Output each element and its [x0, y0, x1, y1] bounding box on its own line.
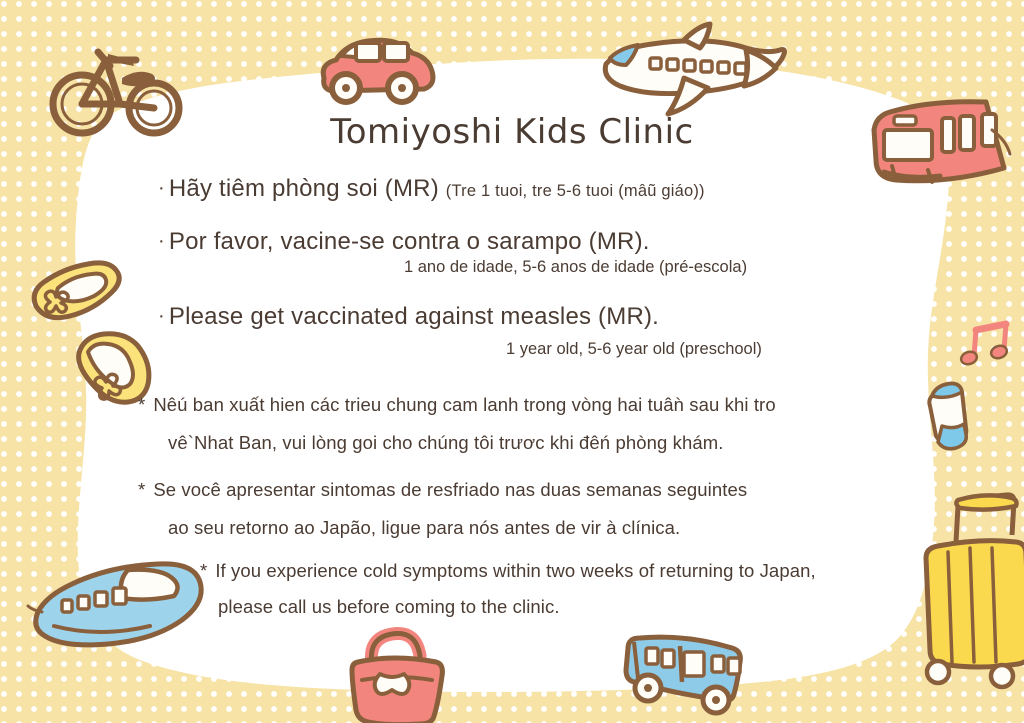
cold-note-vietnamese-line2: vê`Nhat Ban, vui lòng goi cho chúng tôi … — [168, 432, 724, 454]
cold-note-portuguese-line1-text: Se você apresentar sintomas de resfriado… — [153, 479, 747, 500]
poster-text: Tomiyoshi Kids Clinic ·Hãy tiêm phòng so… — [0, 0, 1024, 723]
cold-note-vietnamese-line1-text: Nêú ban xuất hien các trieu chung cam l… — [153, 394, 775, 415]
cold-note-english-line2: please call us before coming to the clin… — [218, 596, 560, 618]
vaccine-notice-vietnamese-detail: (Tre 1 tuoi, tre 5-6 tuoi (mâũ giáo)) — [446, 182, 705, 200]
cold-note-english-line1-text: If you experience cold symptoms within t… — [215, 560, 815, 581]
cold-note-portuguese-line2: ao seu retorno ao Japão, ligue para nós … — [168, 517, 680, 539]
vaccine-notice-vietnamese: ·Hãy tiêm phòng soi (MR) (Tre 1 tuoi, tr… — [158, 175, 705, 203]
vaccine-notice-vietnamese-main: Hãy tiêm phòng soi (MR) — [169, 175, 439, 202]
asterisk-mark: * — [200, 560, 207, 581]
page-title: Tomiyoshi Kids Clinic — [0, 112, 1024, 152]
vaccine-notice-portuguese: ·Por favor, vacine-se contra o sarampo (… — [158, 228, 650, 256]
vaccine-notice-english: ·Please get vaccinated against measles (… — [158, 303, 659, 331]
vaccine-notice-english-main: Please get vaccinated against measles (M… — [169, 303, 659, 330]
cold-note-vietnamese-line1: *Nêú ban xuất hien các trieu chung cam … — [138, 394, 776, 416]
asterisk-mark: * — [138, 394, 145, 415]
asterisk-mark: * — [138, 479, 145, 500]
poster-canvas: Tomiyoshi Kids Clinic ·Hãy tiêm phòng so… — [0, 0, 1024, 723]
cold-note-portuguese-line1: *Se você apresentar sintomas de resfriad… — [138, 479, 747, 501]
vaccine-notice-portuguese-main: Por favor, vacine-se contra o sarampo (M… — [169, 228, 650, 255]
bullet-mark: · — [158, 177, 165, 199]
cold-note-english-line1: *If you experience cold symptoms within … — [200, 560, 816, 582]
bullet-mark: · — [158, 305, 165, 327]
vaccine-notice-portuguese-detail: 1 ano de idade, 5-6 anos de idade (pré-e… — [404, 258, 747, 277]
vaccine-notice-english-detail: 1 year old, 5-6 year old (preschool) — [506, 340, 762, 359]
bullet-mark: · — [158, 230, 165, 252]
